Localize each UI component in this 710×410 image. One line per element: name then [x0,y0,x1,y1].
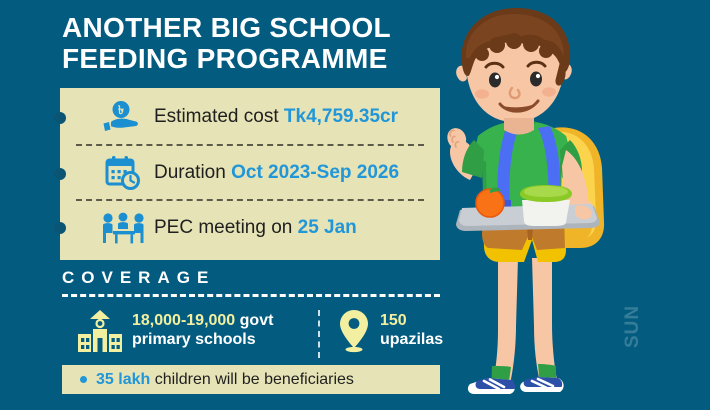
key-facts-panel: ৳ Estimated cost Tk4,759.35cr [60,88,440,260]
map-pin-icon [334,308,374,354]
fact-value-pec-meeting: 25 Jan [298,217,357,238]
coverage-number-upazilas: 150 [380,312,407,329]
title-line-1: ANOTHER BIG SCHOOL [62,12,462,43]
coverage-label-schools: 18,000-19,000 govt primary schools [132,312,273,350]
beneficiaries-rest: children will be beneficiaries [150,371,354,388]
calendar-clock-icon [100,155,148,191]
page-title: ANOTHER BIG SCHOOL FEEDING PROGRAMME [62,12,462,75]
coverage-column-divider [318,310,320,358]
fact-row-duration: Duration Oct 2023-Sep 2026 [60,148,440,198]
row-separator-1 [76,144,424,146]
school-building-icon [74,308,126,354]
fact-row-pec-meeting-text: PEC meeting on 25 Jan [154,217,357,239]
fact-row-pec-meeting: PEC meeting on 25 Jan [60,203,440,253]
schoolboy-illustration [404,0,710,410]
coverage-suffix-schools: govt [235,312,273,329]
fact-label-estimated-cost: Estimated cost [154,106,284,127]
bullet-icon [80,376,87,383]
fact-row-duration-text: Duration Oct 2023-Sep 2026 [154,162,399,184]
fact-row-estimated-cost-text: Estimated cost Tk4,759.35cr [154,106,398,128]
fact-label-duration: Duration [154,162,231,183]
coverage-line2-schools: primary schools [132,331,256,348]
infographic-canvas: ANOTHER BIG SCHOOL FEEDING PROGRAMME ৳ E… [0,0,710,410]
beneficiaries-bar: 35 lakh children will be beneficiaries [62,365,440,394]
row-separator-2 [76,199,424,201]
title-line-2: FEEDING PROGRAMME [62,43,462,74]
hand-holding-taka-coin-icon: ৳ [100,100,148,134]
beneficiaries-highlight: 35 lakh [96,371,150,388]
coverage-number-schools: 18,000-19,000 [132,312,235,329]
coverage-columns: 18,000-19,000 govt primary schools 150 u… [62,306,452,362]
fact-value-estimated-cost: Tk4,759.35cr [284,106,398,127]
coverage-item-schools: 18,000-19,000 govt primary schools [74,308,273,354]
fact-value-duration: Oct 2023-Sep 2026 [231,162,399,183]
fact-label-pec-meeting: PEC meeting on [154,217,298,238]
beneficiaries-text: 35 lakh children will be beneficiaries [96,371,354,389]
fact-row-estimated-cost: ৳ Estimated cost Tk4,759.35cr [60,92,440,142]
svg-text:৳: ৳ [118,103,124,117]
coverage-divider [62,294,440,297]
watermark-sun: SUN [622,305,644,348]
coverage-heading: COVERAGE [62,268,215,288]
meeting-table-people-icon [100,211,148,245]
